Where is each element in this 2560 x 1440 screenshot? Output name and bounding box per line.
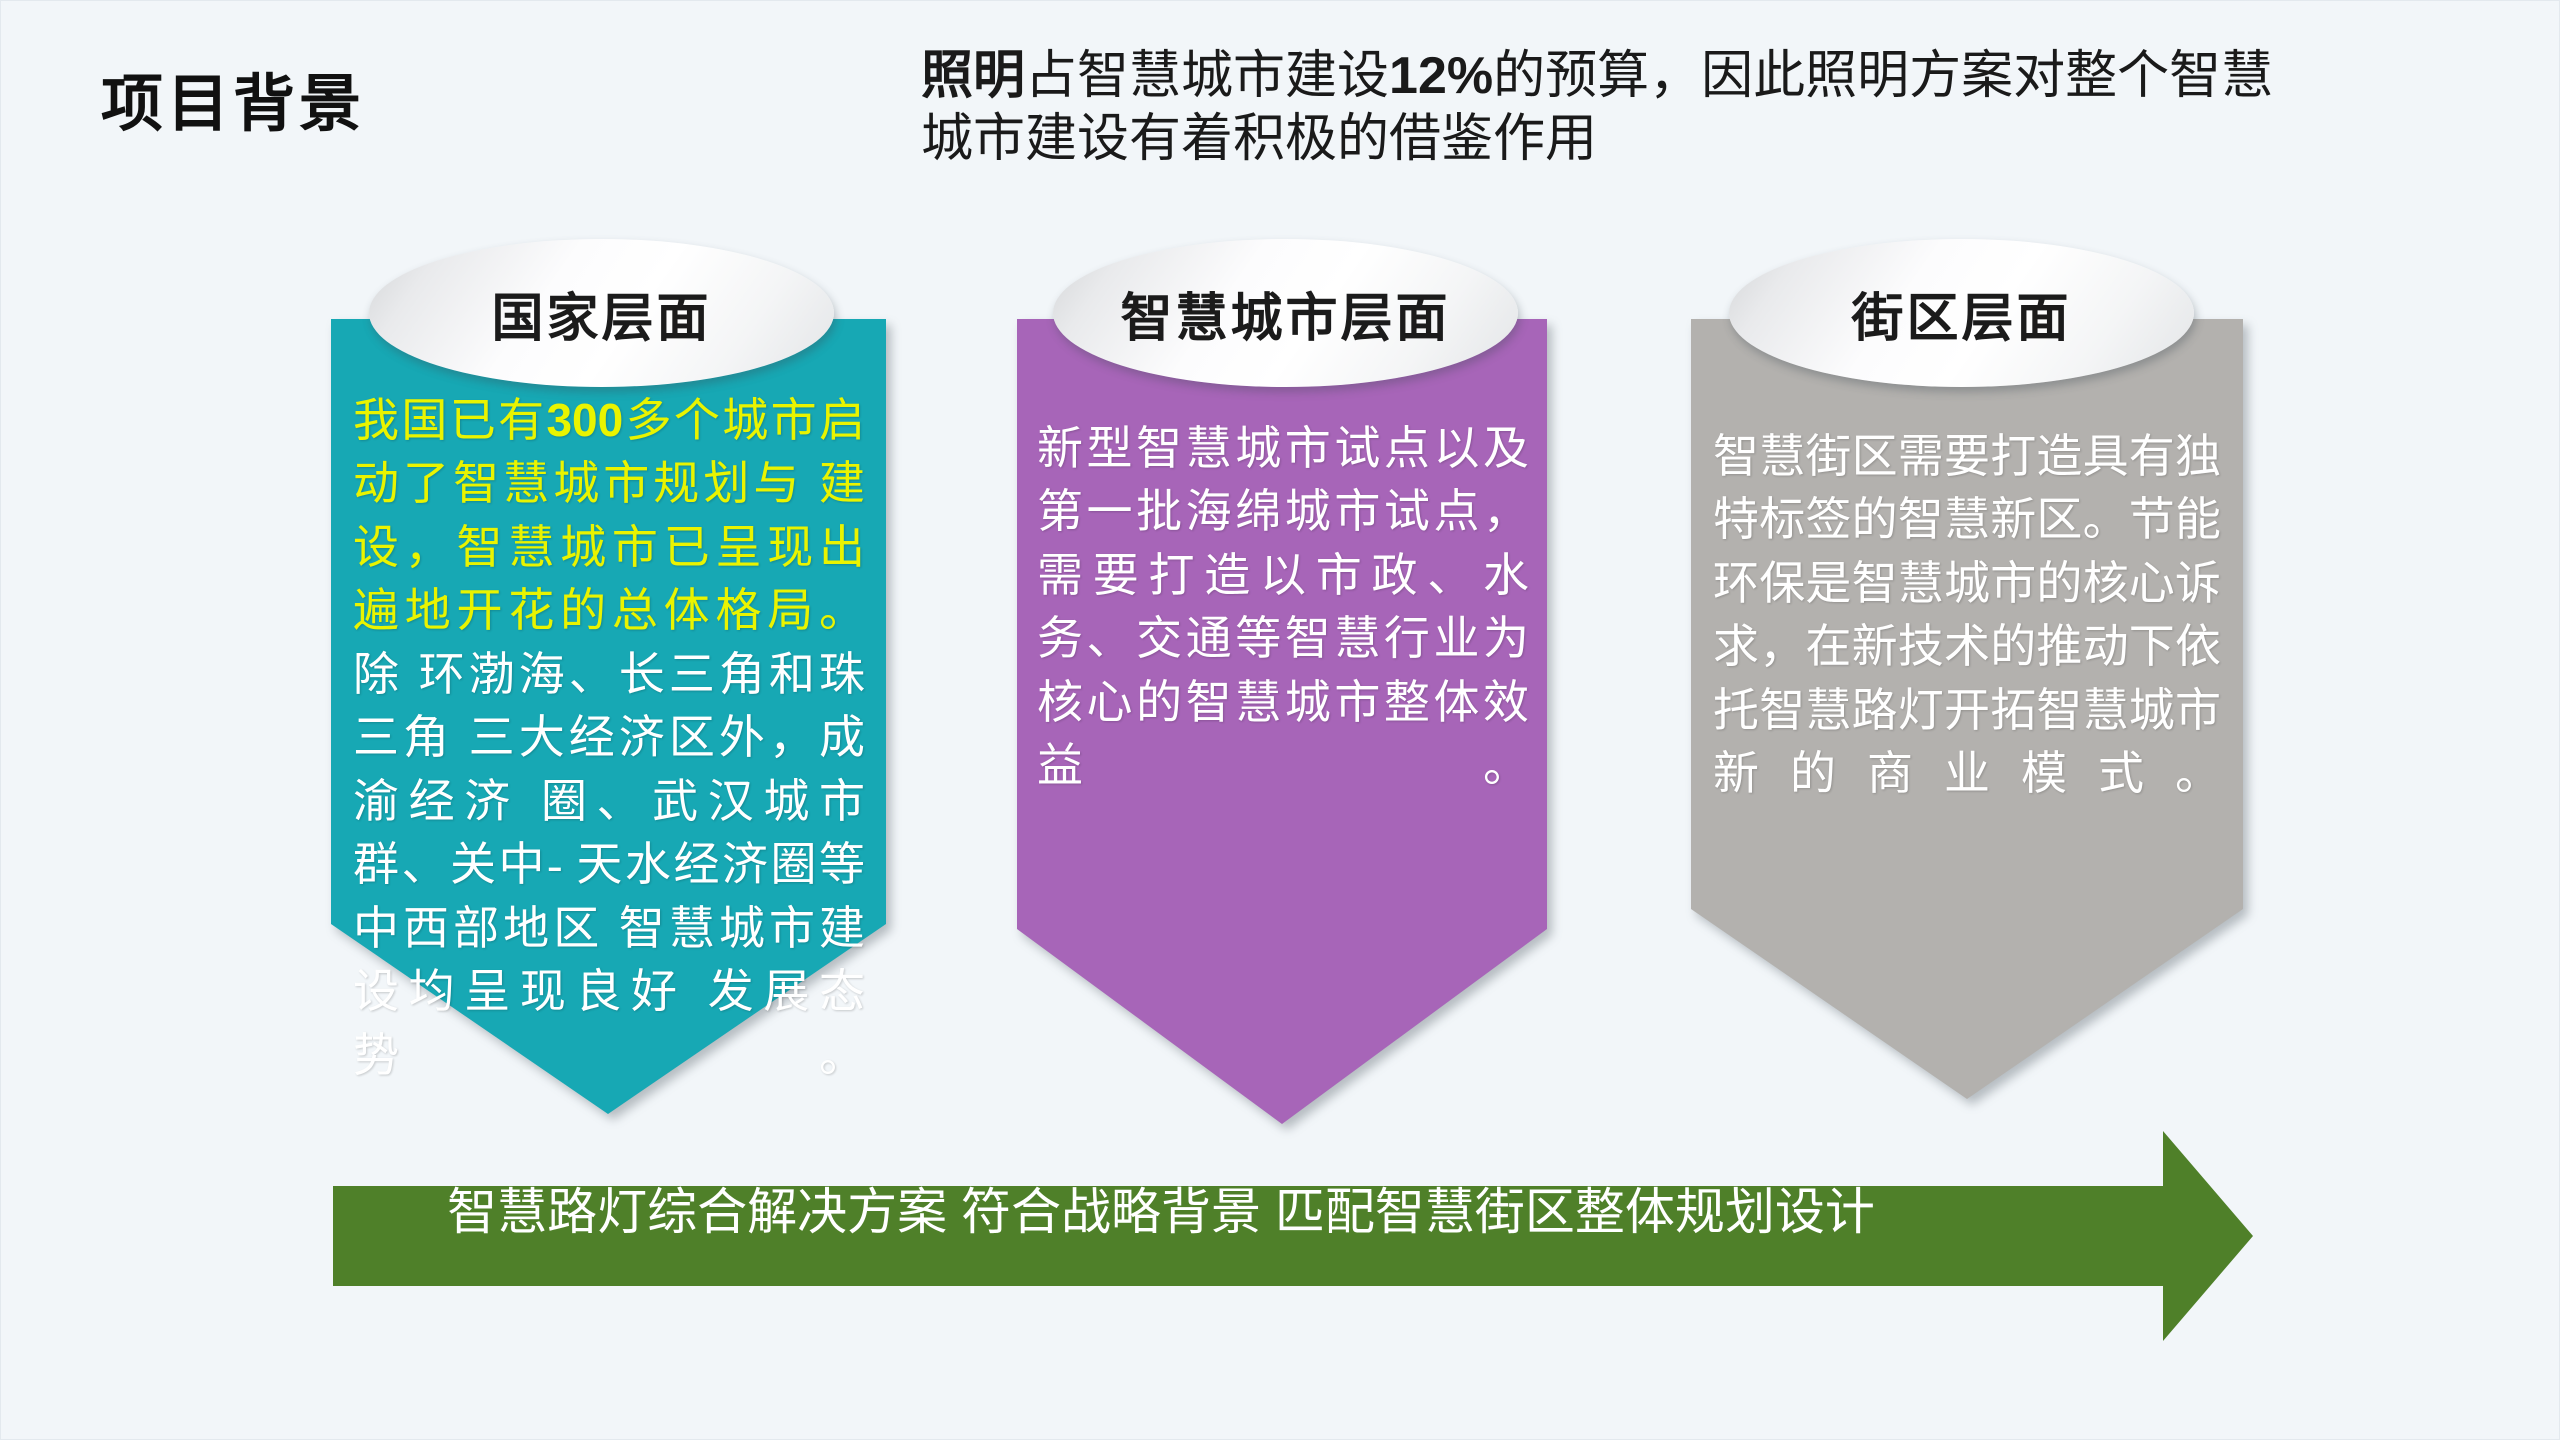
cap-smartcity: 智慧城市层面 xyxy=(1053,239,1518,387)
slide-canvas: 项目背景 照明占智慧城市建设12%的预算，因此照明方案对整个智慧城市建设有着积极… xyxy=(0,0,2560,1440)
ribbon-block: 智慧街区需要打造具有独特标签的智慧新区。节能环保是智慧城市的核心诉求，在新技术的… xyxy=(1691,319,2243,1104)
ribbon-smartcity: 新型智慧城市试点以及第一批海绵城市试点，需要打造以市政、水务、交通等智慧行业为核… xyxy=(1017,319,1547,1129)
summary-arrow: 智慧路灯综合解决方案 符合战略背景 匹配智慧街区整体规划设计 xyxy=(333,1131,2253,1341)
cap-block: 街区层面 xyxy=(1729,239,2194,387)
page-title: 项目背景 xyxy=(101,53,365,143)
header-note-percent: 12% xyxy=(1389,47,1493,105)
ribbon-smartcity-text: 新型智慧城市试点以及第一批海绵城市试点，需要打造以市政、水务、交通等智慧行业为核… xyxy=(1037,417,1529,798)
ribbon-block-text: 智慧街区需要打造具有独特标签的智慧新区。节能环保是智慧城市的核心诉求，在新技术的… xyxy=(1713,425,2221,806)
cap-national: 国家层面 xyxy=(369,239,834,387)
cap-block-label: 街区层面 xyxy=(1851,276,2071,351)
ribbon-national-highlight: 我国已有300多个城市启动了智慧城市规划与 建设，智慧城市已呈现出 遍地开花的总… xyxy=(353,395,865,636)
hl-part-1: 我国已有 xyxy=(353,395,546,446)
ribbon-national-text: 我国已有300多个城市启动了智慧城市规划与 建设，智慧城市已呈现出 遍地开花的总… xyxy=(353,389,865,1087)
ribbon-national: 我国已有300多个城市启动了智慧城市规划与 建设，智慧城市已呈现出 遍地开花的总… xyxy=(331,319,886,1119)
ribbon-national-plain: 除 环渤海、长三角和珠三角 三大经济区外，成渝经济 圈、武汉城市群、关中- 天水… xyxy=(353,649,865,1081)
cap-smartcity-label: 智慧城市层面 xyxy=(1120,276,1450,351)
hl-number-300: 300 xyxy=(546,394,623,446)
header-note-bold-lead: 照明 xyxy=(921,47,1025,105)
cap-national-label: 国家层面 xyxy=(491,276,711,351)
header-note-mid: 占智慧城市建设 xyxy=(1025,48,1389,105)
header-note: 照明占智慧城市建设12%的预算，因此照明方案对整个智慧城市建设有着积极的借鉴作用 xyxy=(921,45,2321,172)
summary-arrow-label: 智慧路灯综合解决方案 符合战略背景 匹配智慧街区整体规划设计 xyxy=(361,1183,1961,1242)
